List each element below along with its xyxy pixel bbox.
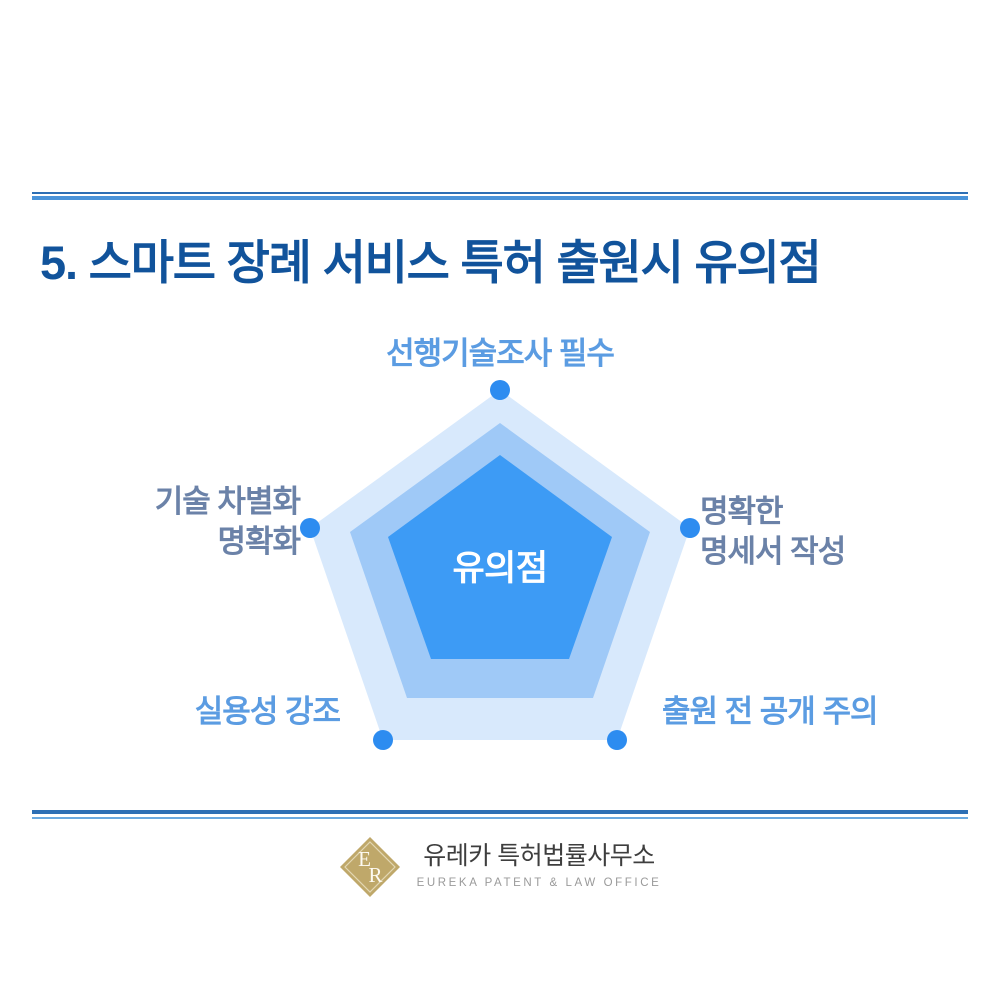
vertex-dot-bottom-right bbox=[607, 730, 627, 750]
eureka-diamond-logo-icon: E R bbox=[339, 836, 401, 898]
firm-name-ko: 유레카 특허법률사무소 bbox=[423, 843, 654, 871]
node-label-right: 명확한 명세서 작성 bbox=[700, 492, 980, 571]
node-label-right-line2: 명세서 작성 bbox=[700, 532, 980, 572]
node-label-left: 기술 차별화 명확화 bbox=[40, 482, 300, 561]
vertex-dot-left bbox=[300, 518, 320, 538]
node-label-left-line2: 명확화 bbox=[40, 522, 300, 562]
vertex-dot-bottom-left bbox=[373, 730, 393, 750]
node-label-bottom-right: 출원 전 공개 주의 bbox=[662, 692, 982, 732]
node-label-top: 선행기술조사 필수 bbox=[0, 334, 1000, 374]
page-title: 5. 스마트 장례 서비스 특허 출원시 유의점 bbox=[40, 224, 970, 293]
footer-logo: E R 유레카 특허법률사무소 EUREKA PATENT & LAW OFFI… bbox=[0, 836, 1000, 898]
slide-canvas: 5. 스마트 장례 서비스 특허 출원시 유의점 유의점 선행기술조사 필수 기… bbox=[0, 0, 1000, 1000]
vertex-dot-top bbox=[490, 380, 510, 400]
divider-top-thick-rule bbox=[32, 196, 968, 200]
vertex-dot-right bbox=[680, 518, 700, 538]
footer-logo-text: 유레카 특허법률사무소 EUREKA PATENT & LAW OFFICE bbox=[417, 843, 662, 891]
node-label-left-line1: 기술 차별화 bbox=[40, 482, 300, 522]
divider-bottom bbox=[32, 810, 968, 819]
svg-text:R: R bbox=[368, 863, 382, 887]
divider-top bbox=[32, 192, 968, 200]
divider-bottom-thin-rule bbox=[32, 817, 968, 819]
node-label-right-line1: 명확한 bbox=[700, 492, 980, 532]
pentagon-diagram: 유의점 bbox=[280, 390, 720, 770]
firm-name-en: EUREKA PATENT & LAW OFFICE bbox=[417, 878, 662, 890]
node-label-bottom-left: 실용성 강조 bbox=[30, 692, 340, 732]
pentagon-center-label: 유의점 bbox=[280, 540, 720, 591]
